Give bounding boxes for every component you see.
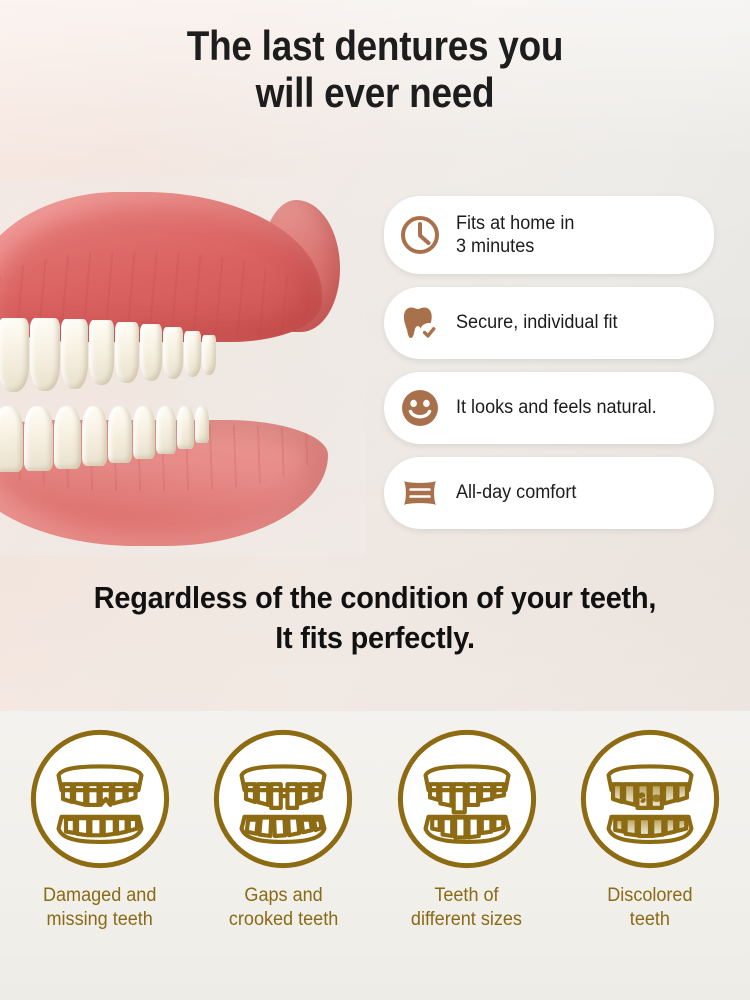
feature-label: Fits at home in 3 minutes	[456, 212, 574, 258]
upper-teeth-row	[0, 318, 216, 392]
pillow-icon	[398, 471, 442, 515]
tooth	[61, 319, 88, 389]
tooth	[108, 406, 132, 463]
dentures-discolored-icon	[576, 725, 724, 873]
denture-closeup-photo	[0, 178, 366, 556]
tooth	[0, 318, 29, 392]
tooth	[163, 327, 183, 379]
condition-label: Discolored teeth	[608, 884, 693, 932]
tooth	[115, 322, 139, 383]
tooth	[30, 318, 60, 391]
tooth	[133, 406, 155, 459]
tooth	[195, 406, 209, 443]
tooth	[82, 406, 107, 466]
mid-banner: Regardless of the condition of your teet…	[26, 578, 724, 657]
clock-icon	[398, 213, 442, 257]
feature-card-list: Fits at home in 3 minutes Secure, indivi…	[384, 196, 714, 529]
tooth	[156, 406, 176, 454]
condition-label: Teeth of different sizes	[411, 884, 522, 932]
condition-item-discolored[interactable]: Discolored teeth	[562, 725, 738, 932]
feature-label: It looks and feels natural.	[456, 396, 657, 419]
mid-banner-line-2: It fits perfectly.	[26, 618, 724, 658]
tooth	[24, 406, 53, 471]
mid-banner-line-1: Regardless of the condition of your teet…	[94, 580, 656, 615]
condition-label: Damaged and missing teeth	[43, 884, 156, 932]
dentures-damaged-icon	[26, 725, 174, 873]
dentures-gapped-icon	[209, 725, 357, 873]
feature-card-secure-fit[interactable]: Secure, individual fit	[384, 287, 714, 359]
feature-label: All-day comfort	[456, 481, 576, 504]
condition-item-uneven[interactable]: Teeth of different sizes	[379, 725, 555, 932]
feature-label: Secure, individual fit	[456, 311, 618, 334]
condition-item-damaged[interactable]: Damaged and missing teeth	[12, 725, 188, 932]
tooth	[0, 406, 23, 472]
feature-card-fits-at-home[interactable]: Fits at home in 3 minutes	[384, 196, 714, 274]
condition-item-gaps[interactable]: Gaps and crooked teeth	[195, 725, 371, 932]
advertisement-page: The last dentures you will ever need	[0, 0, 750, 1000]
feature-card-looks-natural[interactable]: It looks and feels natural.	[384, 372, 714, 444]
tooth-check-icon	[398, 301, 442, 345]
feature-card-all-day-comfort[interactable]: All-day comfort	[384, 457, 714, 529]
tooth	[54, 406, 81, 469]
lower-teeth-row	[0, 406, 209, 472]
conditions-row: Damaged and missing teeth	[0, 725, 750, 932]
tooth	[89, 320, 114, 385]
conditions-section: Damaged and missing teeth	[0, 711, 750, 1000]
condition-label: Gaps and crooked teeth	[229, 884, 338, 932]
page-headline: The last dentures you will ever need	[45, 22, 705, 116]
tooth	[202, 335, 216, 375]
smiley-face-icon	[398, 386, 442, 430]
tooth	[140, 324, 162, 381]
dentures-uneven-icon	[393, 725, 541, 873]
tooth	[184, 331, 201, 377]
tooth	[177, 406, 194, 449]
